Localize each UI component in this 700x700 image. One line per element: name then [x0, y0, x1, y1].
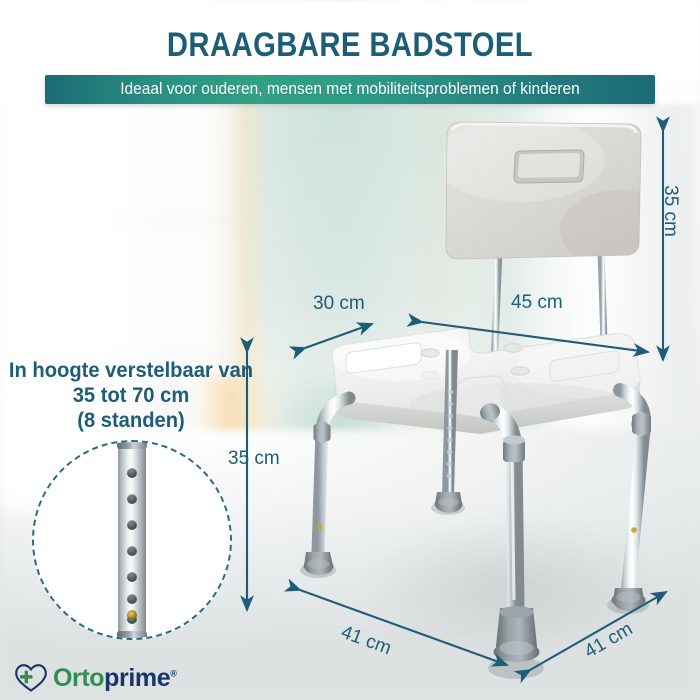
tube-hole: [127, 494, 137, 504]
subtitle-banner: Ideaal voor ouderen, mensen met mobilite…: [45, 75, 655, 104]
label-backrest-height: 35 cm: [659, 185, 681, 237]
label-seat-height: 35 cm: [228, 448, 280, 470]
callout-line-3: (8 standen): [5, 408, 257, 433]
callout-line-1: In hoogte verstelbaar van: [5, 358, 257, 383]
subtitle-text: Ideaal voor ouderen, mensen met mobilite…: [63, 75, 636, 104]
brand-logo: Ortoprime®: [14, 663, 177, 693]
heart-cross-icon: [14, 663, 48, 693]
logo-orto: Orto: [53, 664, 104, 692]
tube-hole: [127, 546, 137, 556]
label-seat-depth: 30 cm: [313, 293, 365, 315]
callout-line-2: 35 tot 70 cm: [5, 383, 257, 408]
dimline-seat-width: [422, 322, 648, 352]
logo-registered-mark: ®: [170, 668, 176, 678]
dimline-seat-depth: [305, 324, 372, 348]
leg-detail-magnifier: [32, 440, 232, 640]
tube-locking-screw: [127, 610, 137, 620]
infographic-canvas: DRAAGBARE BADSTOEL Ideaal voor ouderen, …: [0, 0, 700, 700]
tube-hole: [127, 594, 137, 604]
logo-prime: prime: [104, 664, 170, 692]
page-title: DRAAGBARE BADSTOEL: [49, 26, 651, 65]
tube-cap-bottom: [117, 631, 147, 640]
dimline-base-depth: [300, 590, 507, 665]
tube-hole: [127, 572, 137, 582]
logo-wordmark: Ortoprime®: [53, 666, 177, 691]
label-seat-width: 45 cm: [511, 292, 563, 314]
tube-cap-top: [117, 440, 147, 449]
tube-hole: [127, 520, 137, 530]
height-adjust-callout: In hoogte verstelbaar van 35 tot 70 cm (…: [5, 358, 257, 433]
tube-hole: [127, 468, 137, 478]
